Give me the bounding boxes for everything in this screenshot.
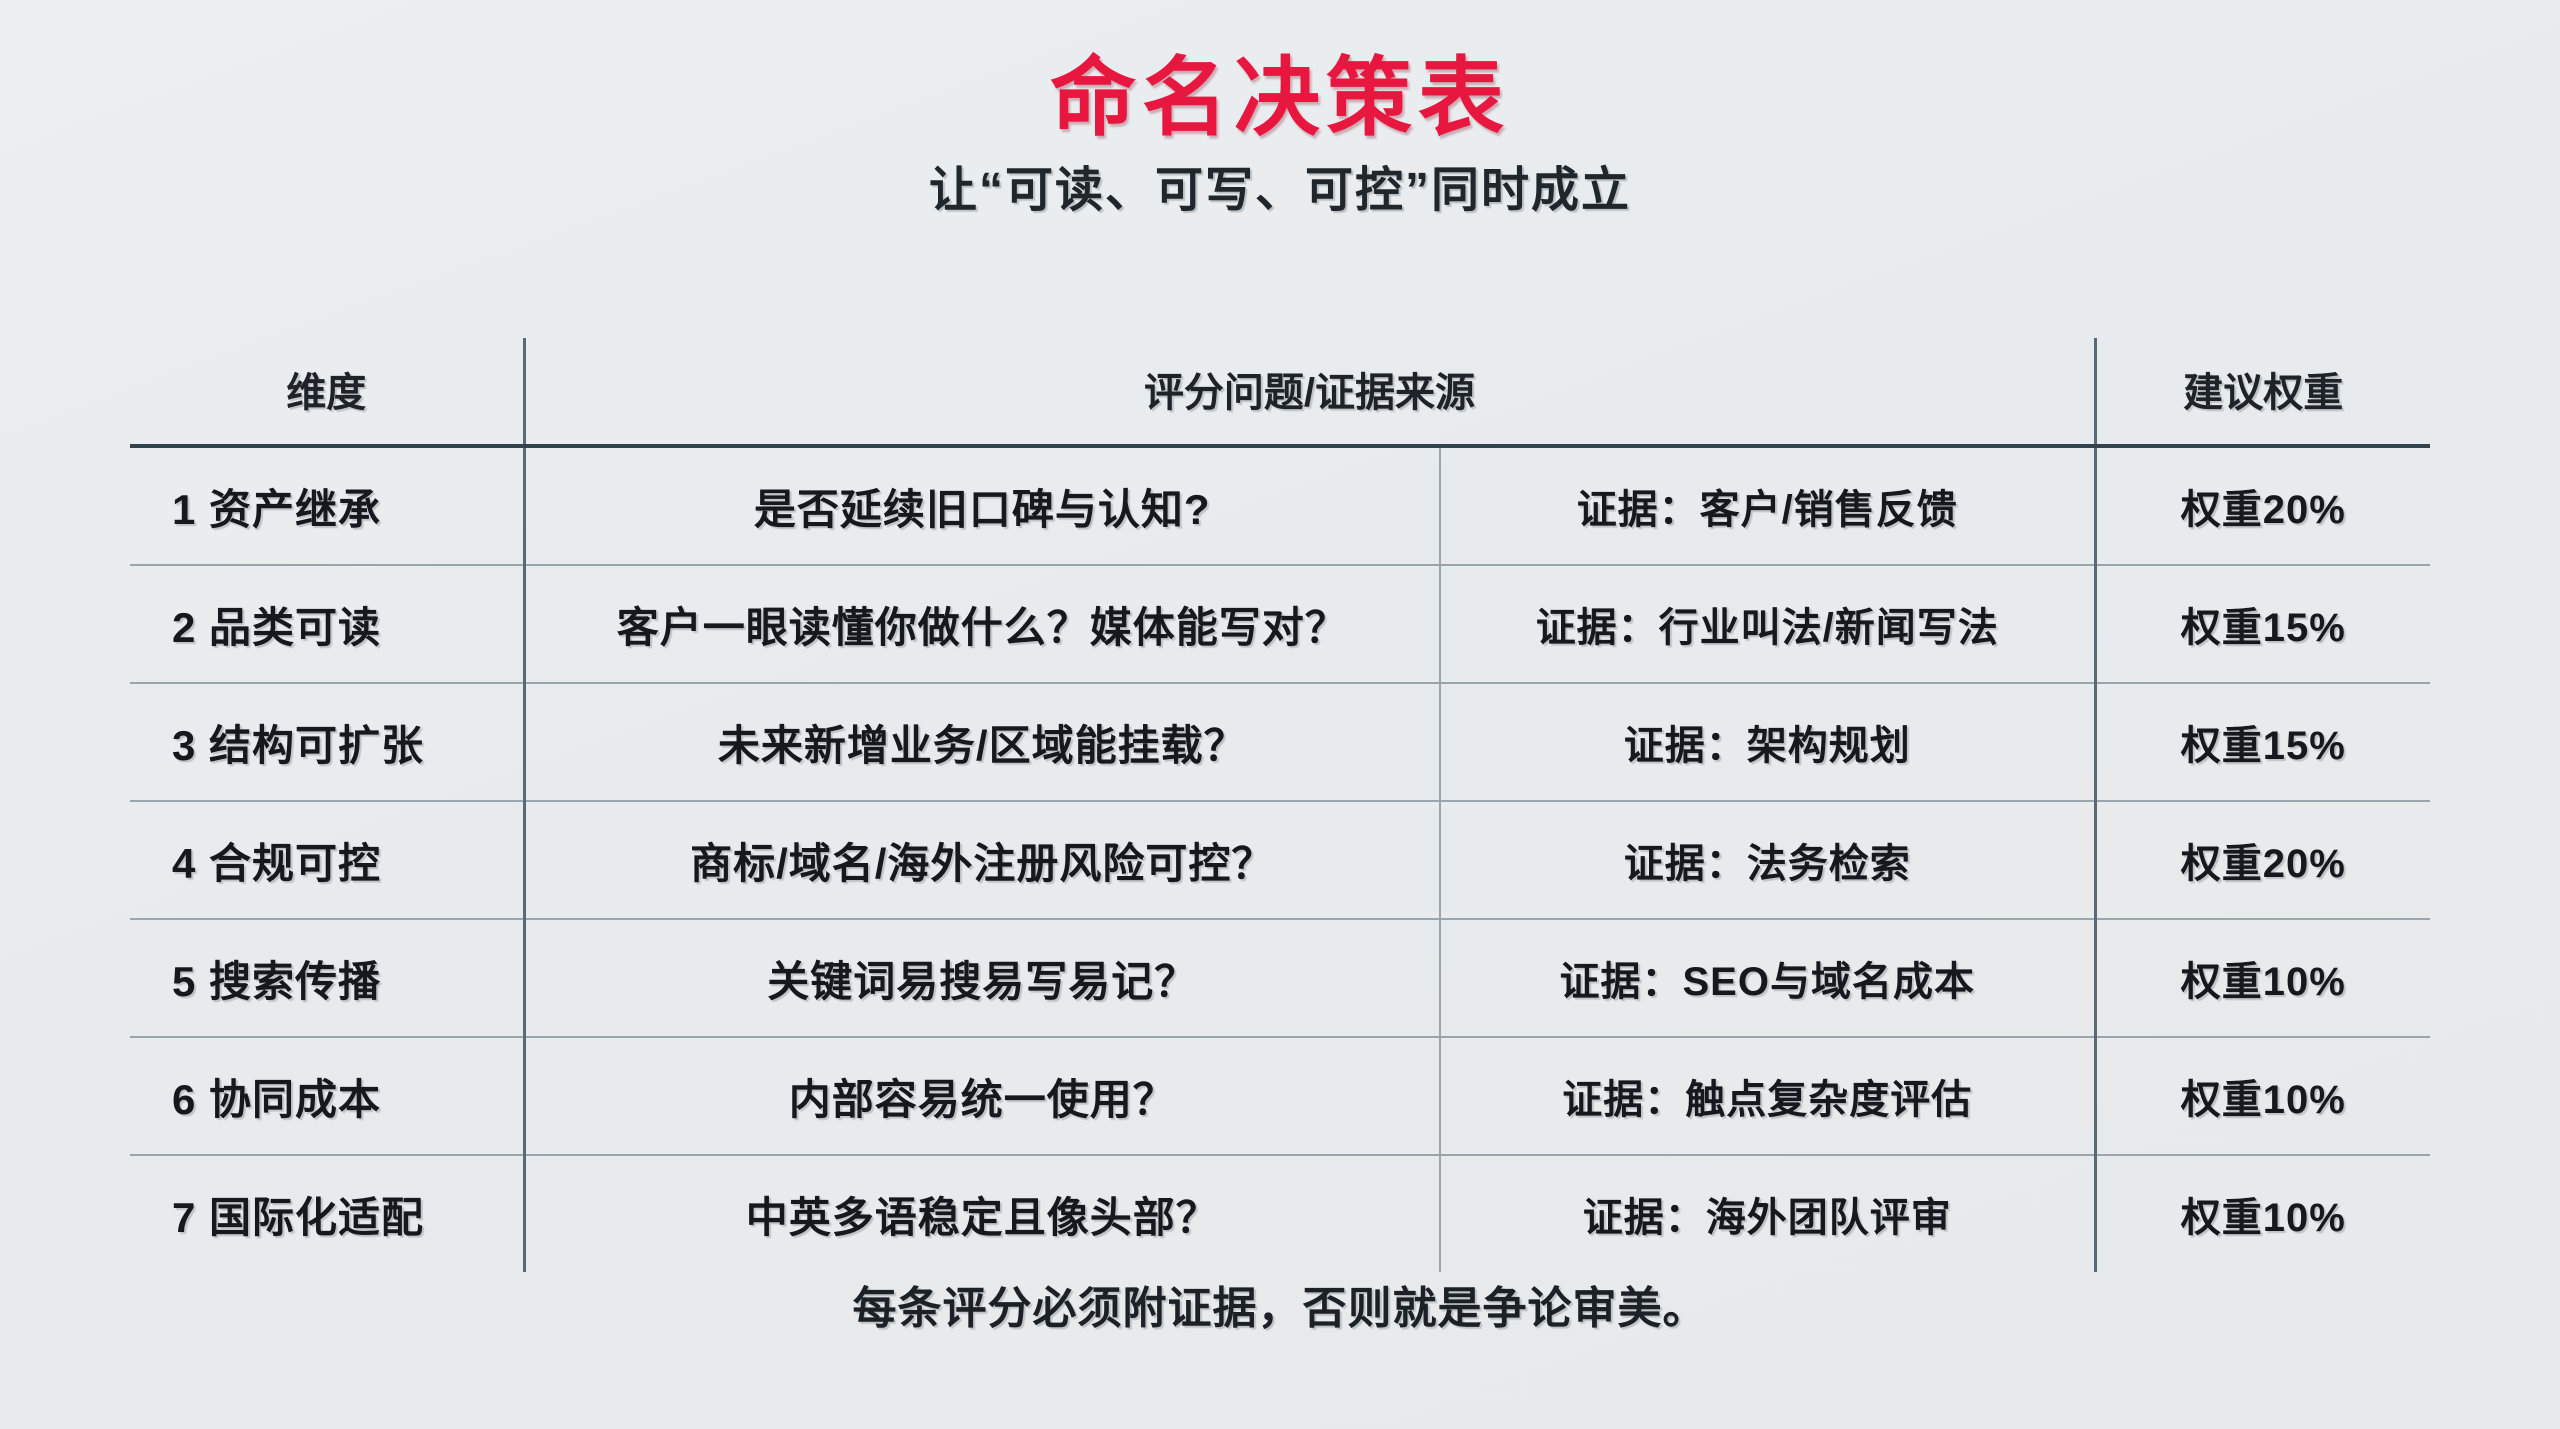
table-row: 4 合规可控 商标/域名/海外注册风险可控？ 证据：法务检索 权重20% <box>130 801 2430 919</box>
page-subtitle: 让“可读、可写、可控”同时成立 <box>0 163 2560 218</box>
column-header-weight: 建议权重 <box>2095 338 2430 446</box>
column-header-dimension: 维度 <box>130 338 524 446</box>
table-row: 1 资产继承 是否延续旧口碑与认知? 证据：客户/销售反馈 权重20% <box>130 446 2430 565</box>
table-body: 1 资产继承 是否延续旧口碑与认知? 证据：客户/销售反馈 权重20% 2 品类… <box>130 446 2430 1272</box>
cell-question: 中英多语稳定且像头部？ <box>524 1155 1440 1272</box>
cell-dimension: 1 资产继承 <box>130 446 524 565</box>
table-row: 2 品类可读 客户一眼读懂你做什么？媒体能写对？ 证据：行业叫法/新闻写法 权重… <box>130 565 2430 683</box>
cell-evidence: 证据：SEO与域名成本 <box>1440 919 2095 1037</box>
cell-evidence: 证据：海外团队评审 <box>1440 1155 2095 1272</box>
cell-weight: 权重15% <box>2095 565 2430 683</box>
cell-dimension: 3 结构可扩张 <box>130 683 524 801</box>
cell-dimension: 7 国际化适配 <box>130 1155 524 1272</box>
table-row: 5 搜索传播 关键词易搜易写易记？ 证据：SEO与域名成本 权重10% <box>130 919 2430 1037</box>
table-header: 维度 评分问题/证据来源 建议权重 <box>130 338 2430 446</box>
cell-weight: 权重15% <box>2095 683 2430 801</box>
cell-evidence: 证据：触点复杂度评估 <box>1440 1037 2095 1155</box>
slide-canvas: 命名决策表 让“可读、可写、可控”同时成立 维度 评分问题/证据来源 建议权重 … <box>0 0 2560 1429</box>
title-block: 命名决策表 让“可读、可写、可控”同时成立 <box>0 0 2560 218</box>
cell-question: 客户一眼读懂你做什么？媒体能写对？ <box>524 565 1440 683</box>
cell-evidence: 证据：法务检索 <box>1440 801 2095 919</box>
cell-dimension: 2 品类可读 <box>130 565 524 683</box>
cell-question: 是否延续旧口碑与认知? <box>524 446 1440 565</box>
cell-weight: 权重10% <box>2095 919 2430 1037</box>
cell-question: 内部容易统一使用？ <box>524 1037 1440 1155</box>
decision-table-container: 维度 评分问题/证据来源 建议权重 1 资产继承 是否延续旧口碑与认知? 证据：… <box>130 338 2430 1272</box>
footer-note: 每条评分必须附证据，否则就是争论审美。 <box>0 1272 2560 1336</box>
cell-dimension: 5 搜索传播 <box>130 919 524 1037</box>
cell-question: 关键词易搜易写易记？ <box>524 919 1440 1037</box>
cell-weight: 权重10% <box>2095 1037 2430 1155</box>
table-row: 3 结构可扩张 未来新增业务/区域能挂载？ 证据：架构规划 权重15% <box>130 683 2430 801</box>
table-header-row: 维度 评分问题/证据来源 建议权重 <box>130 338 2430 446</box>
cell-weight: 权重10% <box>2095 1155 2430 1272</box>
cell-dimension: 4 合规可控 <box>130 801 524 919</box>
decision-table: 维度 评分问题/证据来源 建议权重 1 资产继承 是否延续旧口碑与认知? 证据：… <box>130 338 2430 1272</box>
cell-evidence: 证据：行业叫法/新闻写法 <box>1440 565 2095 683</box>
table-row: 6 协同成本 内部容易统一使用？ 证据：触点复杂度评估 权重10% <box>130 1037 2430 1155</box>
table-row: 7 国际化适配 中英多语稳定且像头部？ 证据：海外团队评审 权重10% <box>130 1155 2430 1272</box>
cell-question: 商标/域名/海外注册风险可控？ <box>524 801 1440 919</box>
cell-weight: 权重20% <box>2095 801 2430 919</box>
cell-evidence: 证据：架构规划 <box>1440 683 2095 801</box>
cell-question: 未来新增业务/区域能挂载？ <box>524 683 1440 801</box>
page-title: 命名决策表 <box>0 52 2560 145</box>
cell-evidence: 证据：客户/销售反馈 <box>1440 446 2095 565</box>
cell-dimension: 6 协同成本 <box>130 1037 524 1155</box>
cell-weight: 权重20% <box>2095 446 2430 565</box>
column-header-question-evidence: 评分问题/证据来源 <box>524 338 2095 446</box>
